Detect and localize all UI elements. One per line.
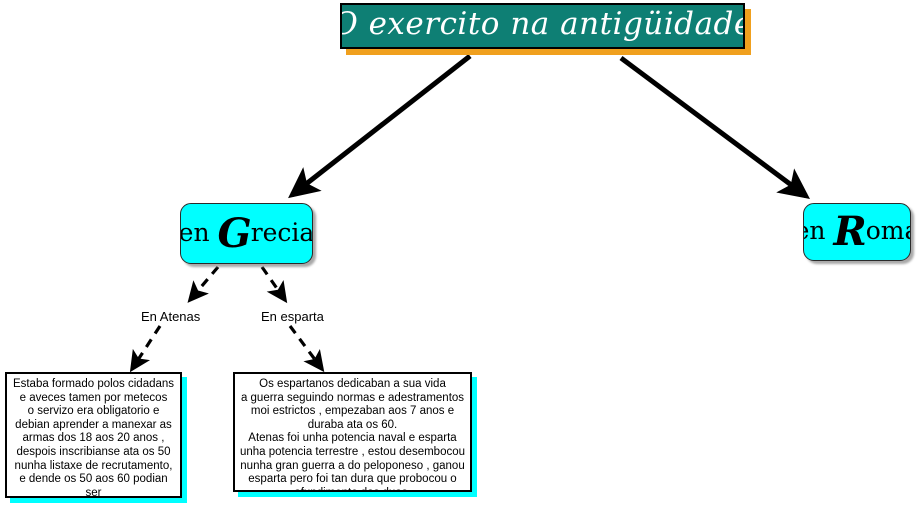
ornate-initial-g-icon: G — [218, 210, 251, 257]
text-line: Estaba formado polos cidadans — [10, 378, 177, 392]
edge-label-en-atenas: En Atenas — [139, 309, 202, 324]
text-line: nunha listaxe de recrutamento, — [10, 460, 177, 474]
text-line: e aveces tamen por metecos — [10, 392, 177, 406]
text-box-esparta[interactable]: Os espartanos dedicaban a sua vidaa guer… — [233, 372, 472, 492]
text-line: esparta pero foi tan dura que probocou o — [238, 473, 467, 487]
node-en-grecia-prefix: en — [180, 218, 218, 247]
text-box-atenas[interactable]: Estaba formado polos cidadanse aveces ta… — [5, 372, 182, 498]
connector-grecia-to-atenas-label — [190, 267, 218, 300]
text-line: despois inscribianse ata os 50 — [10, 446, 177, 460]
node-title[interactable]: O exercito na antigüidade — [340, 3, 745, 49]
text-line: a guerra seguindo normas e adestramentos — [238, 392, 467, 406]
connector-grecia-to-esparta-label — [262, 267, 285, 300]
text-line: unha potencia terrestre , estou desemboc… — [238, 446, 467, 460]
text-line: moi estrictos , empezaban aos 7 anos e — [238, 405, 467, 419]
connector-atenas-label-to-box — [132, 326, 160, 369]
node-en-grecia[interactable]: en Grecia — [180, 203, 313, 264]
text-line: nunha gran guerra a do peloponeso , gano… — [238, 460, 467, 474]
connector-title-to-roma — [621, 58, 806, 196]
node-en-roma-label: en Roma — [803, 212, 911, 252]
node-en-roma-suffix: oma — [866, 216, 911, 245]
text-line: Os espartanos dedicaban a sua vida — [238, 378, 467, 392]
connector-title-to-grecia — [292, 56, 470, 195]
text-line: afundimento das duas. — [238, 487, 467, 492]
edge-label-en-esparta: En esparta — [259, 309, 326, 324]
ornate-initial-r-icon: R — [833, 208, 865, 255]
text-line: o servizo era obligatorio e — [10, 405, 177, 419]
text-line: e dende os 50 aos 60 podian ser — [10, 473, 177, 498]
text-line: armas dos 18 aos 20 anos , — [10, 432, 177, 446]
text-line: duraba ata os 60. — [238, 419, 467, 433]
node-en-grecia-label: en Grecia — [180, 214, 313, 254]
node-en-grecia-suffix: recia — [251, 218, 313, 247]
text-line: Atenas foi unha potencia naval e esparta — [238, 432, 467, 446]
text-line: debian aprender a manexar as — [10, 419, 177, 433]
node-title-label: O exercito na antigüidade — [340, 9, 745, 43]
node-en-roma[interactable]: en Roma — [803, 203, 911, 261]
connector-esparta-label-to-box — [290, 326, 322, 369]
node-en-roma-prefix: en — [803, 216, 833, 245]
concept-map-canvas: O exercito na antigüidade en Grecia en R… — [0, 0, 918, 505]
